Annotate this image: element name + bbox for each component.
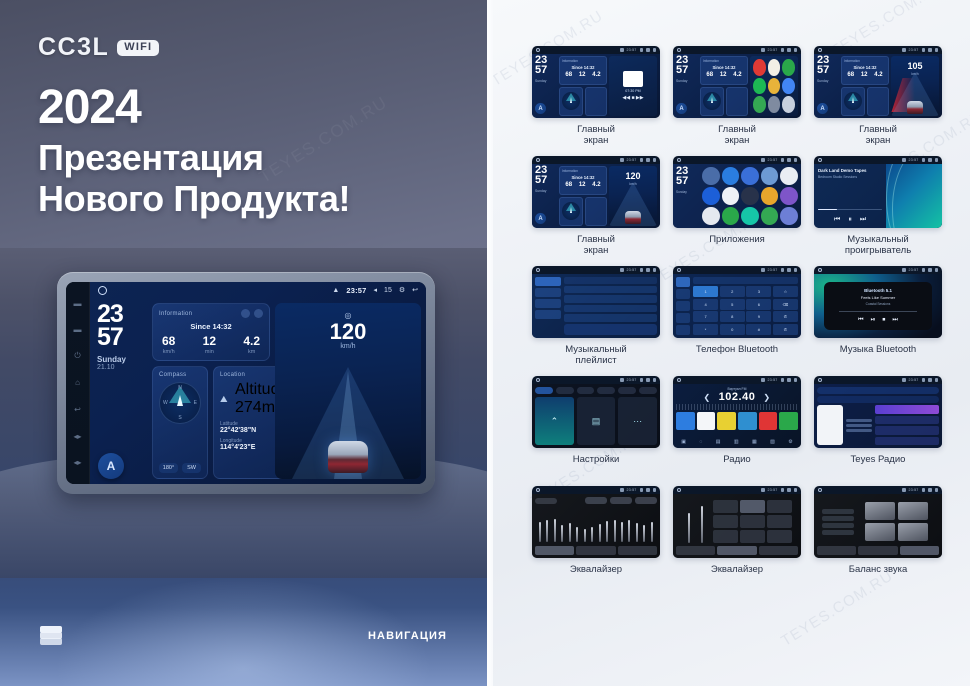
app-icon-gallery xyxy=(768,78,781,95)
teyes-top-nav[interactable] xyxy=(817,387,939,394)
gear-icon xyxy=(646,488,650,492)
key-1[interactable]: 1 xyxy=(693,286,718,297)
next-station-button[interactable]: ❯ xyxy=(763,393,770,402)
mini-body: ⌃ ▤ ⋯ xyxy=(532,384,660,448)
card-usage[interactable]: ▤ xyxy=(577,397,616,445)
mini-widget-row xyxy=(841,87,889,116)
layers-icon xyxy=(40,626,62,644)
sidebar-item-search[interactable] xyxy=(676,301,690,311)
tile-label: Эквалайзер xyxy=(532,565,660,588)
information-title: Information xyxy=(159,311,192,317)
preset-all[interactable] xyxy=(822,530,854,535)
mini-stat-2: 12 xyxy=(579,182,586,188)
list-item[interactable] xyxy=(564,305,657,313)
app-icon-camera xyxy=(780,167,798,185)
app-icon-google xyxy=(702,207,720,225)
tile-music-player[interactable]: 23:57 Dark Land Demo Tapes Bedroom Studi… xyxy=(814,156,942,228)
mini-player-info: Dark Land Demo Tapes Bedroom Studio Sess… xyxy=(814,164,886,228)
logo-wifi-badge: WIFI xyxy=(117,40,159,56)
back-icon[interactable]: ↩ xyxy=(412,287,418,294)
mini-information-title: Information xyxy=(844,59,886,63)
gallery-item[interactable]: 23:57 23 57 Sunday A xyxy=(814,46,942,148)
mini-information-title: Information xyxy=(562,169,604,173)
eq-level-sliders[interactable] xyxy=(682,500,708,543)
list-item[interactable] xyxy=(875,437,939,446)
gear-icon xyxy=(928,378,932,382)
app-icon-chrome xyxy=(702,187,720,205)
eq-save-button[interactable] xyxy=(610,497,632,504)
assistant-button[interactable]: A xyxy=(98,453,124,479)
key-3[interactable]: 3 xyxy=(746,286,771,297)
mini-clock-column: 23 57 Sunday A xyxy=(535,166,557,226)
gallery-item[interactable]: 23:57 xyxy=(673,486,801,588)
card-more[interactable]: ⋯ xyxy=(618,397,657,445)
playback-controls[interactable]: ⏮ ⏯ ⏹ ⏭ xyxy=(858,317,898,324)
tab-sound-field[interactable] xyxy=(858,546,897,555)
tile-playlist[interactable]: 23:57 xyxy=(532,266,660,338)
seat-front-left[interactable] xyxy=(865,502,895,520)
sidebar-item-dialpad[interactable] xyxy=(676,277,690,287)
mini-radio-layout: Виртуал FM ❮ 102.40 ❯ xyxy=(673,384,801,448)
wifi-icon[interactable]: ⌃ xyxy=(535,397,574,445)
mini-information-title: Information xyxy=(562,59,604,63)
preset-rear[interactable] xyxy=(822,523,854,528)
tile-home-music[interactable]: 23:57 23 57 Sunday A xyxy=(532,46,660,118)
home-icon xyxy=(536,488,540,492)
information-header: Information xyxy=(159,309,263,318)
wifi-icon xyxy=(761,158,765,162)
seat-front-right[interactable] xyxy=(898,502,928,520)
tab-wlan[interactable] xyxy=(535,387,553,394)
logo-text: CC3L xyxy=(38,33,109,62)
settings-tabs[interactable] xyxy=(535,387,657,394)
sidebar-item-tracks[interactable] xyxy=(535,277,561,286)
gallery-item[interactable]: 23:57 xyxy=(532,266,660,368)
app-icon-drive xyxy=(782,78,795,95)
driving-hud-widget[interactable]: ◎ 120 km/h xyxy=(275,303,421,479)
home-screen-body: 23 57 Sunday 21.10 A Information xyxy=(90,299,426,484)
radio-frequency: 102.40 xyxy=(719,391,756,403)
home-key[interactable]: ⌂ xyxy=(73,378,82,387)
key-8[interactable]: 8 xyxy=(720,311,745,322)
app-icon-music xyxy=(741,207,759,225)
hardware-button-rail[interactable]: ▬ ▬ ⏻ ⌂ ↩ ◂▸ ◂▸ xyxy=(66,282,90,484)
gallery-item[interactable]: 23:57 23 57 Sunday A xyxy=(532,156,660,258)
mini-assistant-button[interactable]: A xyxy=(676,103,687,114)
mini-location-widget xyxy=(585,87,607,116)
back-icon xyxy=(794,488,798,492)
gear-icon[interactable]: ⚙ xyxy=(399,287,405,294)
mini-hud-widget: 120 km/h xyxy=(609,166,657,226)
mini-status-bar: 23:57 xyxy=(673,46,801,54)
mini-compass-dial xyxy=(562,92,580,110)
mini-road-view: 120 km/h xyxy=(609,166,657,226)
key-0[interactable]: 0 xyxy=(720,324,745,335)
seat-rear-right[interactable] xyxy=(898,523,928,541)
tile-bluetooth-phone[interactable]: 23:57 xyxy=(673,266,801,338)
mini-bt-music-layout: Bluetooth 5.1 Feels Like Summer Coastal … xyxy=(814,274,942,338)
back-icon xyxy=(935,268,939,272)
seat-rear-left[interactable] xyxy=(865,523,895,541)
mini-trip-since: Since 14:32 xyxy=(562,65,604,70)
wifi-icon xyxy=(902,488,906,492)
backspace-button[interactable]: ⌫ xyxy=(773,299,798,310)
playback-controls[interactable]: ⏮ ⏸ ⏭ xyxy=(818,216,882,224)
search-icon[interactable]: ◌ xyxy=(699,439,702,445)
preset-flat[interactable] xyxy=(767,530,792,543)
compass-north-label: N xyxy=(178,385,182,391)
app-icon-gallery xyxy=(780,187,798,205)
back-icon xyxy=(935,158,939,162)
pause-button[interactable]: ⏸ xyxy=(848,216,852,224)
loc-button[interactable]: ▧ xyxy=(770,439,775,445)
next-button[interactable]: ⏭ xyxy=(892,317,897,324)
back-icon xyxy=(653,378,657,382)
tile-apps[interactable]: 23:57 23 57 Sunday xyxy=(673,156,801,228)
mode-key[interactable]: ◂▸ xyxy=(73,432,82,441)
gear-icon xyxy=(646,158,650,162)
preset-vocal[interactable] xyxy=(767,515,792,528)
tile-equalizer-presets[interactable]: 23:57 xyxy=(673,486,801,558)
list-item[interactable] xyxy=(564,286,657,294)
gallery-item[interactable]: 23:57 xyxy=(814,486,942,588)
mini-status-bar: 23:57 xyxy=(814,156,942,164)
volume-up-key[interactable]: ▬ xyxy=(73,325,82,334)
volume-icon xyxy=(640,378,644,382)
track-title: Dark Land Demo Tapes xyxy=(818,168,882,173)
list-item[interactable] xyxy=(875,416,939,425)
playlist-sidebar[interactable] xyxy=(535,277,561,335)
compass-readouts: 180° SW xyxy=(159,463,201,473)
progress-bar[interactable] xyxy=(839,311,917,312)
tab-eq[interactable] xyxy=(535,546,574,555)
key-4[interactable]: 4 xyxy=(693,299,718,310)
preset-front[interactable] xyxy=(822,516,854,521)
tile-sound-balance[interactable]: 23:57 xyxy=(814,486,942,558)
wifi-icon xyxy=(902,378,906,382)
tab-eq[interactable] xyxy=(676,546,715,555)
mini-clock-day: Sunday xyxy=(535,79,557,83)
mini-status-bar: 23:57 xyxy=(532,156,660,164)
tile-home-road-red[interactable]: 23:57 23 57 Sunday A xyxy=(814,46,942,118)
gallery-item[interactable]: 23:57 23 57 Sunday A xyxy=(673,46,801,148)
sidebar-item-favorites[interactable] xyxy=(535,299,561,308)
tile-label: Приложения xyxy=(673,235,801,258)
mini-app-shortcuts xyxy=(750,56,798,116)
teyes-filter-nav[interactable] xyxy=(817,396,939,403)
nav-key[interactable]: ◂▸ xyxy=(73,458,82,467)
eq-tabs[interactable] xyxy=(535,546,657,555)
eq-reset-button[interactable] xyxy=(585,497,607,504)
preset-standard[interactable] xyxy=(713,500,738,513)
tile-bluetooth-music[interactable]: 23:57 Bluetooth 5.1 Feels Like Summer Co… xyxy=(814,266,942,338)
volume-down-key[interactable]: ▬ xyxy=(73,299,82,308)
power-key[interactable]: ⏻ xyxy=(73,352,82,361)
tab-apps[interactable] xyxy=(618,387,636,394)
mini-trip-since: Since 14:32 xyxy=(844,65,886,70)
mini-stat-3: 4.2 xyxy=(592,72,600,78)
tab-about[interactable] xyxy=(639,387,657,394)
eq-preset-label[interactable] xyxy=(535,498,557,504)
back-icon xyxy=(794,158,798,162)
list-button[interactable]: ▤ xyxy=(716,439,721,445)
compass-dial: N S W E xyxy=(159,382,201,424)
key-5[interactable]: 5 xyxy=(720,299,745,310)
volume-icon xyxy=(781,48,785,52)
hud-speed-unit: km/h xyxy=(275,343,421,350)
list-item[interactable] xyxy=(564,314,657,322)
preset-jazz[interactable] xyxy=(740,515,765,528)
key-hash[interactable]: # xyxy=(746,324,771,335)
home-icon xyxy=(677,48,681,52)
eq-band-sliders[interactable] xyxy=(535,504,657,546)
mini-home-layout: 23 57 Sunday A Information Since 14:32 xyxy=(673,54,801,118)
mini-location-widget xyxy=(867,87,889,116)
back-icon xyxy=(653,268,657,272)
prev-station-button[interactable]: ❮ xyxy=(703,393,710,402)
tab-eq[interactable] xyxy=(817,546,856,555)
balance-presets[interactable] xyxy=(822,500,854,543)
mini-body: Bluetooth 5.1 Feels Like Summer Coastal … xyxy=(814,274,942,338)
preset-1[interactable] xyxy=(676,412,695,430)
phone-sidebar[interactable] xyxy=(676,277,690,335)
preset-6[interactable] xyxy=(779,412,798,430)
gear-icon xyxy=(928,48,932,52)
album-art xyxy=(623,71,643,87)
list-item[interactable] xyxy=(875,405,939,414)
mini-assistant-button[interactable]: A xyxy=(817,103,828,114)
tab-sound-field[interactable] xyxy=(717,546,756,555)
mini-status-bar: 23:57 xyxy=(532,46,660,54)
home-icon xyxy=(677,158,681,162)
stat-speed: 68 km/h xyxy=(162,335,175,355)
compass-widget[interactable]: Compass N S W E xyxy=(152,366,208,479)
gear-icon xyxy=(928,158,932,162)
key-7[interactable]: 7 xyxy=(693,311,718,322)
mini-balance-layout xyxy=(814,494,942,558)
stat-time: 12 min xyxy=(203,335,216,355)
mini-body: 23 57 Sunday A Information Since 14:32 xyxy=(532,164,660,228)
back-key[interactable]: ↩ xyxy=(73,405,82,414)
station-list[interactable] xyxy=(875,405,939,445)
sidebar-item-folders[interactable] xyxy=(535,310,561,319)
mini-stat-1: 68 xyxy=(565,182,572,188)
preset-bass[interactable] xyxy=(713,530,738,543)
gear-icon xyxy=(928,268,932,272)
mini-body xyxy=(814,384,942,448)
information-widget[interactable]: Information Since 14:32 xyxy=(152,303,270,361)
stat-speed-unit: km/h xyxy=(162,349,175,355)
mini-hud-unit: km/h xyxy=(891,72,939,76)
headline: 2024 Презентация Нового Продукта! xyxy=(38,84,350,219)
preset-classic[interactable] xyxy=(740,500,765,513)
tab-sound[interactable] xyxy=(556,387,574,394)
dialpad-keys[interactable]: 1 2 3 ☆ 4 5 6 ⌫ 7 8 xyxy=(693,286,798,335)
gear-icon xyxy=(646,378,650,382)
gallery-item[interactable]: 23:57 xyxy=(532,376,660,478)
next-button[interactable]: ⏭ xyxy=(860,216,866,224)
mini-information-widget: Information Since 14:32 68 12 4.2 xyxy=(559,56,607,85)
stop-button[interactable]: ⏹ xyxy=(882,317,885,324)
mini-clock-minutes: 57 xyxy=(817,66,839,76)
mini-home-layout: 23 57 Sunday A Information Since 14:32 xyxy=(814,54,942,118)
wifi-icon xyxy=(761,268,765,272)
tile-home-apps[interactable]: 23:57 23 57 Sunday A xyxy=(673,46,801,118)
tile-equalizer-bands[interactable]: 23:57 xyxy=(532,486,660,558)
now-playing-bar[interactable] xyxy=(564,324,657,335)
wifi-icon xyxy=(620,268,624,272)
eq-preset-grid[interactable] xyxy=(713,500,792,543)
seat-balance-pad[interactable] xyxy=(859,500,934,543)
call-button[interactable]: ✆ xyxy=(773,311,798,322)
tab-tone[interactable] xyxy=(759,546,798,555)
band-button[interactable]: ▣ xyxy=(681,439,686,445)
mini-hud-speed: 120 xyxy=(609,171,657,181)
preset-rock[interactable] xyxy=(713,515,738,528)
clock-minutes: 57 xyxy=(95,326,147,349)
mini-clock-day: Sunday xyxy=(535,189,557,193)
frequency-scale[interactable] xyxy=(676,404,798,410)
app-icon-allapps xyxy=(782,96,795,113)
key-star[interactable]: * xyxy=(693,324,718,335)
mini-body xyxy=(532,494,660,558)
star-button[interactable]: ☆ xyxy=(773,286,798,297)
gallery-item[interactable]: 23:57 xyxy=(673,266,801,368)
key-6[interactable]: 6 xyxy=(746,299,771,310)
sidebar-item-contacts[interactable] xyxy=(676,289,690,299)
home-icon xyxy=(818,488,822,492)
sidebar-item-albums[interactable] xyxy=(535,288,561,297)
preset-4[interactable] xyxy=(738,412,757,430)
tile-settings[interactable]: 23:57 xyxy=(532,376,660,448)
refresh-icon[interactable] xyxy=(241,309,250,318)
mini-location-widget xyxy=(585,197,607,226)
playlist-tabs[interactable] xyxy=(564,277,657,284)
mini-clock-minutes: 57 xyxy=(535,176,557,186)
tile-label: Главныйэкран xyxy=(532,125,660,148)
status-clock: 23:57 xyxy=(346,286,366,295)
eq-load-button[interactable] xyxy=(635,497,657,504)
eq-tabs[interactable] xyxy=(817,546,939,555)
mini-status-bar: 23:57 xyxy=(532,376,660,384)
eq-button[interactable]: ▥ xyxy=(734,439,739,445)
prev-button[interactable]: ⏮ xyxy=(834,216,840,224)
gear-icon xyxy=(787,158,791,162)
preset-driver[interactable] xyxy=(822,509,854,514)
music-controls[interactable]: ◀◀ ■ ▶▶ xyxy=(622,95,643,101)
tab-system[interactable] xyxy=(597,387,615,394)
preset-custom[interactable] xyxy=(740,530,765,543)
mini-information-widget: Information Since 14:32 68 12 4.2 xyxy=(841,56,889,85)
tile-home-road[interactable]: 23:57 23 57 Sunday A xyxy=(532,156,660,228)
mini-trip-stats: 68 12 4.2 xyxy=(562,182,604,188)
gallery-item[interactable]: 23:57 Bluetooth 5.1 Feels Like Summer Co… xyxy=(814,266,942,368)
gallery-item[interactable]: 23:57 Виртуал FM ❮ 102.40 ❯ xyxy=(673,376,801,478)
home-icon xyxy=(818,268,822,272)
key-2[interactable]: 2 xyxy=(720,286,745,297)
tile-label: Teyes Радио xyxy=(814,455,942,478)
compass-west-label: W xyxy=(163,400,168,406)
clock-column: 23 57 Sunday 21.10 A xyxy=(95,303,147,479)
sidebar-item-settings[interactable] xyxy=(676,325,690,335)
preset-2[interactable] xyxy=(697,412,716,430)
mini-assistant-button[interactable]: A xyxy=(535,213,546,224)
app-icon-play xyxy=(753,96,766,113)
tab-sound-field[interactable] xyxy=(576,546,615,555)
wifi-icon xyxy=(620,378,624,382)
mini-status-bar: 23:57 xyxy=(814,486,942,494)
tile-label: Радио xyxy=(673,455,801,478)
app-icon-filemanager xyxy=(761,187,779,205)
stat-distance: 4.2 km xyxy=(243,335,260,355)
settings-button[interactable]: ⚙ xyxy=(788,439,792,445)
volume-icon xyxy=(922,158,926,162)
head-unit: ▬ ▬ ⏻ ⌂ ↩ ◂▸ ◂▸ ▲ 23:57 xyxy=(66,282,426,484)
preset-stations[interactable] xyxy=(676,412,798,430)
key-9[interactable]: 9 xyxy=(746,311,771,322)
mini-status-bar: 23:57 xyxy=(814,46,942,54)
mini-home-layout: 23 57 Sunday A Information Since 14:32 xyxy=(532,54,660,118)
sidebar-item-calllog[interactable] xyxy=(676,313,690,323)
progress-bar[interactable] xyxy=(818,209,882,211)
gallery-item[interactable]: 23:57 xyxy=(814,376,942,478)
gallery-item[interactable]: 23:57 23 57 Sunday xyxy=(673,156,801,258)
mini-assistant-button[interactable]: A xyxy=(535,103,546,114)
wifi-icon xyxy=(761,488,765,492)
gallery-item[interactable]: 23:57 xyxy=(532,486,660,588)
preset-3[interactable] xyxy=(717,412,736,430)
list-item[interactable] xyxy=(875,426,939,435)
preset-5[interactable] xyxy=(759,412,778,430)
mini-compass-widget xyxy=(559,197,583,226)
list-item[interactable] xyxy=(564,295,657,303)
preset-pop[interactable] xyxy=(767,500,792,513)
head-unit-screen[interactable]: ▲ 23:57 ◂ 15 ⚙ ↩ 23 57 Sunday xyxy=(90,282,426,484)
mini-road-view: 105 km/h xyxy=(891,56,939,116)
rds-button[interactable]: ▦ xyxy=(752,439,757,445)
call-button-2[interactable]: ✆ xyxy=(773,324,798,335)
widget-row: Compass N S W E xyxy=(152,366,270,479)
home-icon[interactable] xyxy=(98,286,107,295)
gallery-item[interactable]: 23:57 Dark Land Demo Tapes Bedroom Studi… xyxy=(814,156,942,258)
tab-tone[interactable] xyxy=(618,546,657,555)
gear-icon xyxy=(646,268,650,272)
volume-icon xyxy=(922,488,926,492)
tile-teyes-radio[interactable]: 23:57 xyxy=(814,376,942,448)
right-screenshot-gallery: TEYES.COM.RU TEYES.COM.RU TEYES.COM.RU T… xyxy=(493,0,970,686)
eq-tabs[interactable] xyxy=(676,546,798,555)
volume-icon xyxy=(640,488,644,492)
mini-body xyxy=(532,274,660,338)
radio-frequency-row: ❮ 102.40 ❯ xyxy=(676,391,798,403)
expand-icon[interactable] xyxy=(254,309,263,318)
prev-button[interactable]: ⏮ xyxy=(858,317,863,324)
settings-cards[interactable]: ⌃ ▤ ⋯ xyxy=(535,397,657,445)
app-icon-equalizer xyxy=(741,187,759,205)
tab-display[interactable] xyxy=(577,387,595,394)
wifi-icon xyxy=(902,48,906,52)
volume-icon xyxy=(922,268,926,272)
gallery-item[interactable]: 23:57 23 57 Sunday A xyxy=(532,46,660,148)
play-pause-button[interactable]: ⏯ xyxy=(871,317,876,324)
mini-body: 1 2 3 ☆ 4 5 6 ⌫ 7 8 xyxy=(673,274,801,338)
widget-column: Information Since 14:32 xyxy=(152,303,270,479)
radio-toolbar[interactable]: ▣ ◌ ▤ ▥ ▦ ▧ ⚙ xyxy=(676,439,798,445)
status-bar: ▲ 23:57 ◂ 15 ⚙ ↩ xyxy=(90,282,426,299)
tab-tone[interactable] xyxy=(900,546,939,555)
tile-radio[interactable]: 23:57 Виртуал FM ❮ 102.40 ❯ xyxy=(673,376,801,448)
mini-settings-layout: ⌃ ▤ ⋯ xyxy=(532,384,660,448)
